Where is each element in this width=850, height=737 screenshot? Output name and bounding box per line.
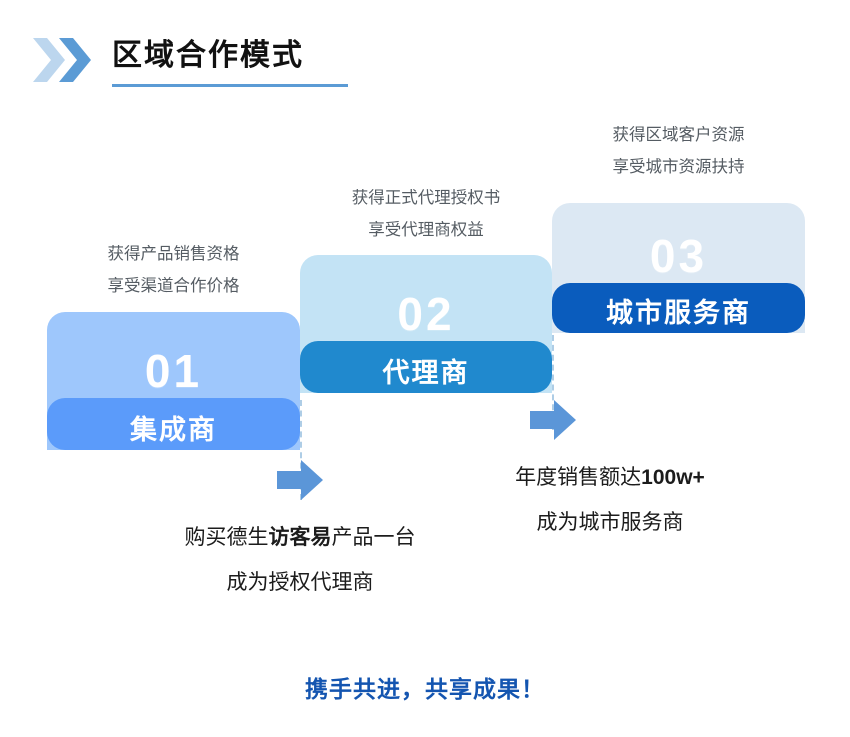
step-requirement-1-prefix: 购买德生: [185, 526, 269, 549]
step-card-03-name: 城市服务商: [552, 291, 805, 330]
page-header: 区域合作模式: [0, 0, 850, 110]
step-requirement-2-line2: 成为城市服务商: [430, 500, 790, 545]
arrow-right-icon-2: [530, 400, 576, 440]
step-requirement-2-line1: 年度销售额达100w+: [430, 455, 790, 500]
footer-slogan: 携手共进，共享成果！: [0, 670, 850, 704]
double-chevron-right-icon: [33, 38, 105, 82]
step-card-02[interactable]: 02 代理商: [300, 255, 552, 393]
step-benefit-2: 获得正式代理授权书 享受代理商权益: [300, 182, 552, 246]
step-card-03-number: 03: [552, 229, 805, 283]
step-benefit-1-line2: 享受渠道合作价格: [47, 270, 300, 302]
step-benefit-1-line1: 获得产品销售资格: [47, 238, 300, 270]
step-card-02-number: 02: [300, 287, 552, 341]
step-card-01-number: 01: [47, 344, 300, 398]
step-benefit-3-line2: 享受城市资源扶持: [552, 151, 805, 183]
chevron-right-icon-dark: [59, 38, 91, 82]
step-benefit-2-line2: 享受代理商权益: [300, 214, 552, 246]
step-benefit-3-line1: 获得区域客户资源: [552, 119, 805, 151]
step-card-02-name: 代理商: [300, 351, 552, 390]
step-requirement-2-highlight: 100w+: [641, 466, 705, 489]
step-requirement-2-prefix: 年度销售额达: [515, 466, 641, 489]
step-requirement-2: 年度销售额达100w+ 成为城市服务商: [430, 455, 790, 545]
step-requirement-1-line2: 成为授权代理商: [120, 560, 480, 605]
step-requirement-1-suffix: 产品一台: [332, 526, 416, 549]
page-title-text: 区域合作模式: [112, 34, 304, 78]
step-benefit-3: 获得区域客户资源 享受城市资源扶持: [552, 119, 805, 183]
title-underline: [112, 84, 348, 87]
step-benefit-2-line1: 获得正式代理授权书: [300, 182, 552, 214]
arrow-right-icon-1: [277, 460, 323, 500]
step-requirement-1: 购买德生访客易产品一台 成为授权代理商: [120, 515, 480, 605]
step-benefit-1: 获得产品销售资格 享受渠道合作价格: [47, 238, 300, 302]
step-card-03[interactable]: 03 城市服务商: [552, 203, 805, 333]
step-requirement-1-line1: 购买德生访客易产品一台: [120, 515, 480, 560]
step-requirement-1-highlight: 访客易: [269, 526, 332, 549]
step-card-01[interactable]: 01 集成商: [47, 312, 300, 450]
step-card-01-name: 集成商: [47, 408, 300, 447]
region-cooperation-infographic: 区域合作模式 获得产品销售资格 享受渠道合作价格 获得正式代理授权书 享受代理商…: [0, 0, 850, 737]
page-title: 区域合作模式: [112, 34, 304, 78]
